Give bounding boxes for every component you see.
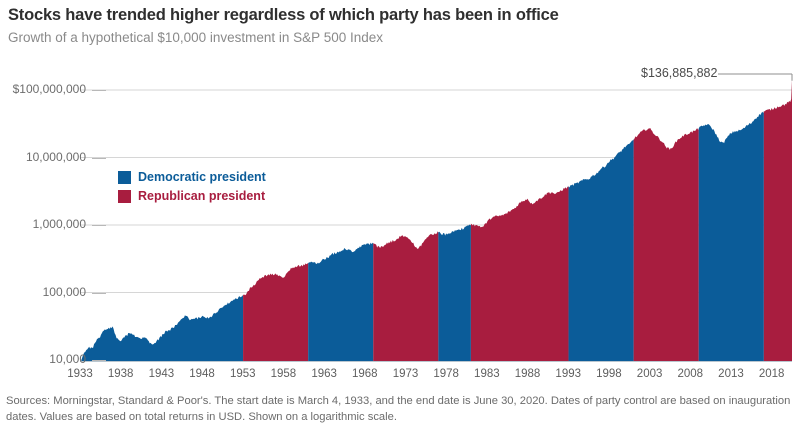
- series-segment-democratic: [569, 139, 634, 361]
- x-axis-tick-label: 1958: [261, 368, 305, 380]
- x-axis-tick-label: 1978: [424, 368, 468, 380]
- series-segment-democratic: [308, 243, 373, 361]
- x-axis-tick-label: 1953: [221, 368, 265, 380]
- x-axis-tick-label: 1983: [465, 368, 509, 380]
- legend-label-republican: Republican president: [138, 189, 265, 203]
- democratic-color-swatch: [118, 171, 131, 184]
- x-axis-tick-label: 1968: [343, 368, 387, 380]
- legend-item-democratic: Democratic president: [118, 170, 266, 184]
- x-axis-tick-label: 1963: [302, 368, 346, 380]
- series-segment-republican: [243, 263, 308, 361]
- series-segment-republican: [471, 186, 569, 361]
- republican-color-swatch: [118, 190, 131, 203]
- x-axis-tick-label: 1988: [506, 368, 550, 380]
- callout-leader-line: [718, 74, 792, 81]
- x-axis-tick-label: 2013: [709, 368, 753, 380]
- page-title: Stocks have trended higher regardless of…: [8, 6, 559, 25]
- y-axis-tick-label: $100,000,000: [0, 82, 86, 96]
- x-axis-tick-label: 1993: [546, 368, 590, 380]
- chart-plot-area: [0, 60, 800, 365]
- page-subtitle: Growth of a hypothetical $10,000 investm…: [8, 30, 383, 45]
- series-segment-democratic: [438, 225, 471, 361]
- x-axis-tick-label: 1938: [99, 368, 143, 380]
- y-axis-tick-mark: [92, 360, 106, 361]
- x-axis-tick-label: 1943: [139, 368, 183, 380]
- x-axis-tick-label: 1998: [587, 368, 631, 380]
- y-axis-tick-label: 1,000,000: [0, 217, 86, 231]
- final-value-callout: $136,885,882: [641, 66, 717, 80]
- chart-legend: Democratic president Republican presiden…: [118, 170, 266, 208]
- chart-page: Stocks have trended higher regardless of…: [0, 0, 800, 430]
- series-area-group: [81, 80, 792, 361]
- legend-label-democratic: Democratic president: [138, 170, 266, 184]
- y-axis-tick-mark: [92, 90, 106, 91]
- y-axis-tick-mark: [92, 293, 106, 294]
- series-segment-democratic: [81, 295, 243, 361]
- x-axis-tick-label: 1948: [180, 368, 224, 380]
- x-axis-tick-label: 2003: [628, 368, 672, 380]
- area-chart-svg: [0, 60, 800, 365]
- legend-item-republican: Republican president: [118, 189, 266, 203]
- footnote: Sources: Morningstar, Standard & Poor's.…: [6, 393, 796, 425]
- x-axis-line: [80, 361, 792, 362]
- y-axis-tick-mark: [92, 225, 106, 226]
- series-segment-republican: [764, 80, 792, 361]
- series-segment-democratic: [699, 111, 764, 361]
- series-segment-republican: [634, 128, 699, 361]
- y-axis-tick-label: 10,000: [0, 352, 86, 366]
- y-axis-tick-label: 10,000,000: [0, 150, 86, 164]
- x-axis-tick-label: 2018: [750, 368, 794, 380]
- series-segment-republican: [373, 231, 438, 361]
- y-axis-tick-mark: [92, 158, 106, 159]
- x-axis-tick-label: 1973: [383, 368, 427, 380]
- x-axis-tick-label: 2008: [668, 368, 712, 380]
- x-axis-tick-label: 1933: [58, 368, 102, 380]
- y-axis-tick-label: 100,000: [0, 285, 86, 299]
